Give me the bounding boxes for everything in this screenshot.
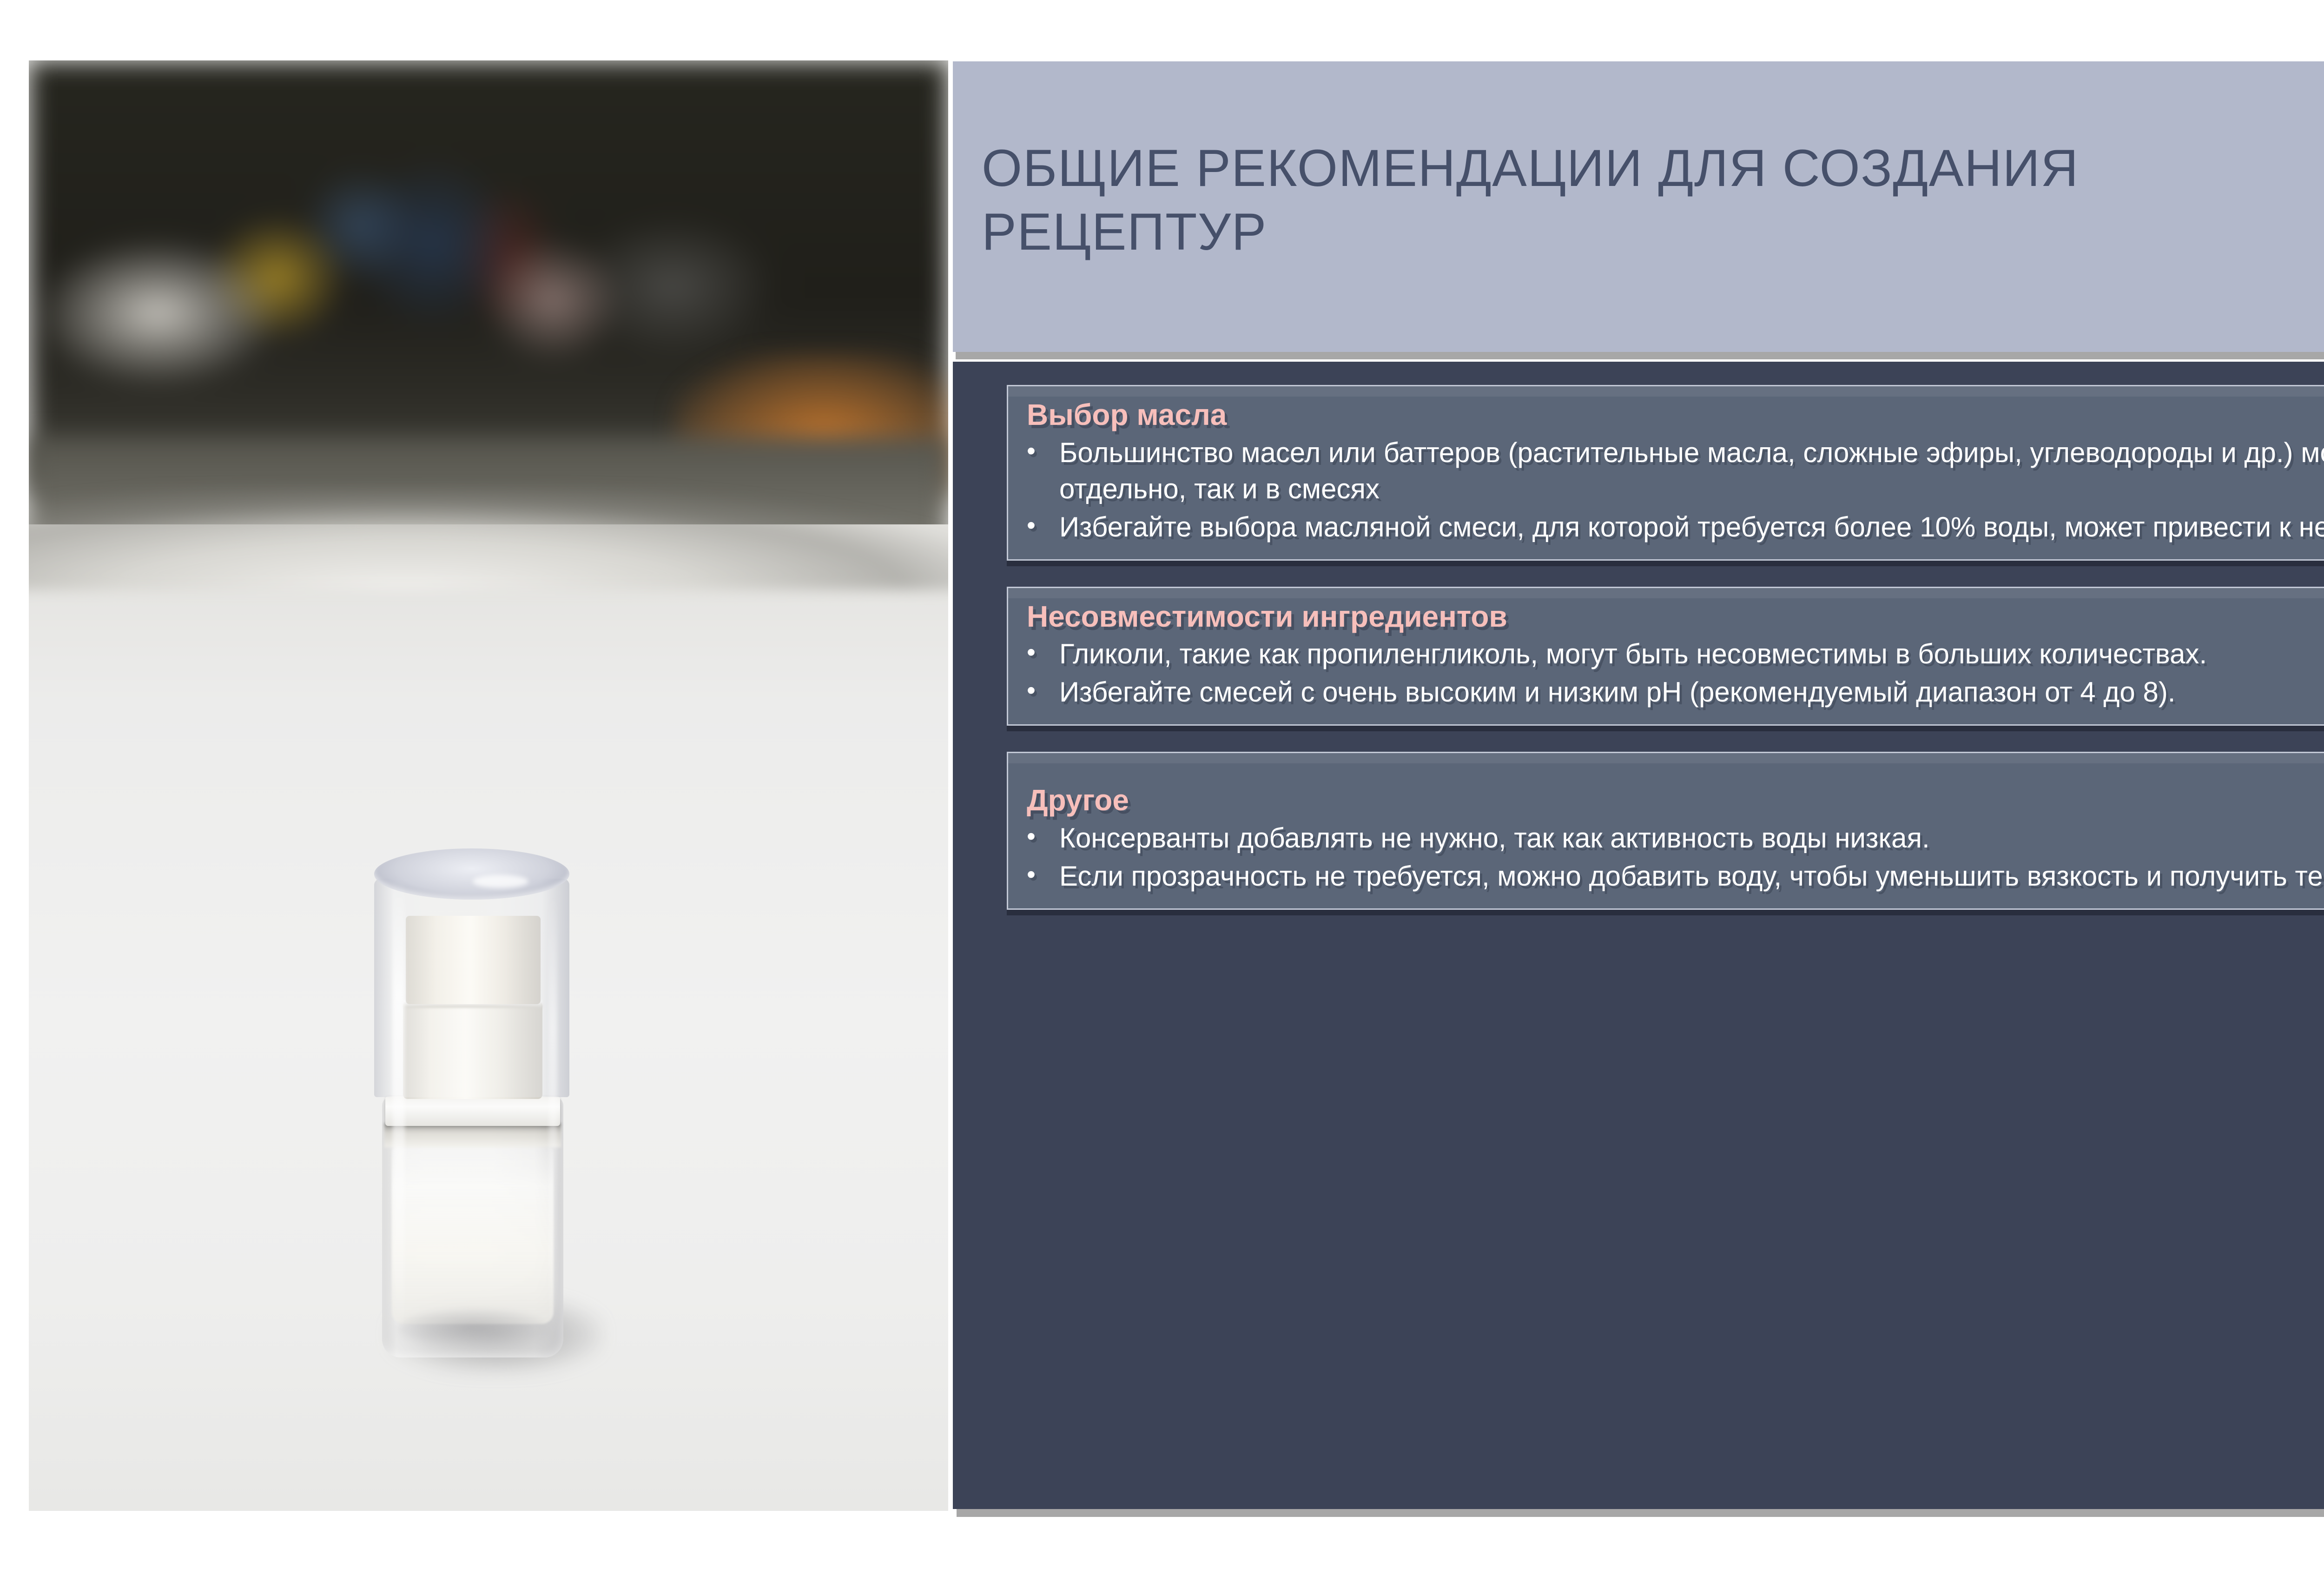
bullet-dot-icon: • bbox=[1027, 858, 1059, 891]
bullet-list: • Гликоли, такие как пропиленгликоль, мо… bbox=[1027, 636, 2324, 710]
list-item: • Большинство масел или баттеров (растит… bbox=[1027, 435, 2324, 507]
content-panel: Выбор масла • Большинство масел или батт… bbox=[953, 362, 2324, 1509]
airless-pump-bottle bbox=[333, 539, 612, 1357]
title-band-shadow bbox=[956, 352, 2324, 359]
list-item-text: Избегайте смесей с очень высоким и низки… bbox=[1059, 674, 2324, 710]
box-heading: Несовместимости ингредиентов bbox=[1027, 600, 2324, 634]
list-item: • Избегайте смесей с очень высоким и низ… bbox=[1027, 674, 2324, 710]
bottle-left-highlight bbox=[393, 879, 405, 1339]
list-item: • Гликоли, такие как пропиленгликоль, мо… bbox=[1027, 636, 2324, 672]
box-heading: Выбор масла bbox=[1027, 398, 2324, 432]
list-item: • Консерванты добавлять не нужно, так ка… bbox=[1027, 820, 2324, 856]
bullet-dot-icon: • bbox=[1027, 674, 1059, 707]
list-item-text: Консерванты добавлять не нужно, так как … bbox=[1059, 820, 2324, 856]
slide-title-band: ОБЩИЕ РЕКОМЕНДАЦИИ ДЛЯ СОЗДАНИЯ РЕЦЕПТУР bbox=[953, 61, 2324, 352]
bullet-dot-icon: • bbox=[1027, 509, 1059, 542]
bottle-bottom-disc bbox=[398, 1309, 547, 1346]
info-box-ingredient-incompatibilities: Несовместимости ингредиентов • Гликоли, … bbox=[1007, 587, 2324, 726]
bottle-liquid-line bbox=[384, 1123, 561, 1147]
content-panel-shadow bbox=[957, 1509, 2324, 1517]
bottle-right-highlight bbox=[549, 893, 557, 1339]
bullet-list: • Большинство масел или баттеров (растит… bbox=[1027, 435, 2324, 545]
bottle-cap-highlight bbox=[473, 875, 528, 888]
page-title: ОБЩИЕ РЕКОМЕНДАЦИИ ДЛЯ СОЗДАНИЯ РЕЦЕПТУР bbox=[953, 137, 2108, 277]
list-item-text: Гликоли, такие как пропиленгликоль, могу… bbox=[1059, 636, 2324, 672]
bottle-contents bbox=[392, 1147, 554, 1324]
bottle-collar bbox=[385, 1096, 560, 1126]
box-heading: Другое bbox=[1027, 784, 2324, 817]
product-photo bbox=[29, 60, 948, 1511]
list-item-text: Избегайте выбора масляной смеси, для кот… bbox=[1059, 509, 2324, 545]
info-box-oil-selection: Выбор масла • Большинство масел или батт… bbox=[1007, 385, 2324, 561]
bullet-list: • Консерванты добавлять не нужно, так ка… bbox=[1027, 820, 2324, 894]
info-box-other: Другое • Консерванты добавлять не нужно,… bbox=[1007, 752, 2324, 910]
bullet-dot-icon: • bbox=[1027, 820, 1059, 853]
list-item: • Если прозрачность не требуется, можно … bbox=[1027, 858, 2324, 894]
bullet-dot-icon: • bbox=[1027, 435, 1059, 467]
bullet-dot-icon: • bbox=[1027, 636, 1059, 669]
list-item: • Избегайте выбора масляной смеси, для к… bbox=[1027, 509, 2324, 545]
list-item-text: Большинство масел или баттеров (растител… bbox=[1059, 435, 2324, 507]
list-item-text: Если прозрачность не требуется, можно до… bbox=[1059, 858, 2324, 894]
